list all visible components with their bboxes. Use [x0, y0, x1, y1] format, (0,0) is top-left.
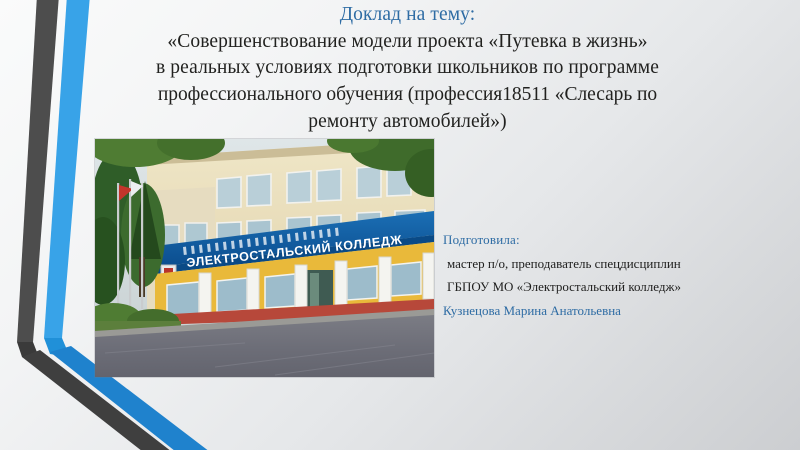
gray-stripe-bend — [17, 342, 40, 360]
author-name: Кузнецова Марина Анатольевна — [443, 299, 783, 323]
title-line-4: профессионального обучения (профессия185… — [120, 82, 695, 109]
title-line-5: ремонту автомобилей») — [120, 109, 695, 136]
presentation-slide: Доклад на тему: «Совершенствование модел… — [0, 0, 800, 450]
author-info: Подготовила: мастер п/о, преподаватель с… — [443, 228, 783, 323]
title-line-3: в реальных условиях подготовки школьнико… — [120, 55, 695, 82]
gray-stripe-upper — [17, 0, 59, 342]
blue-stripe-bend — [44, 338, 70, 357]
slide-title: Доклад на тему: «Совершенствование модел… — [120, 2, 695, 136]
blue-stripe-upper — [44, 0, 90, 338]
author-label: Подготовила: — [443, 228, 783, 252]
title-line-1: Доклад на тему: — [120, 2, 695, 29]
title-line-2: «Совершенствование модели проекта «Путев… — [120, 29, 695, 56]
college-building-photo: ЭЛЕКТРОСТАЛЬСКИЙ КОЛЛЕДЖ — [95, 139, 434, 377]
author-organization: ГБПОУ МО «Электростальский колледж» — [443, 275, 783, 299]
author-role: мастер п/о, преподаватель спецдисциплин — [443, 252, 783, 276]
